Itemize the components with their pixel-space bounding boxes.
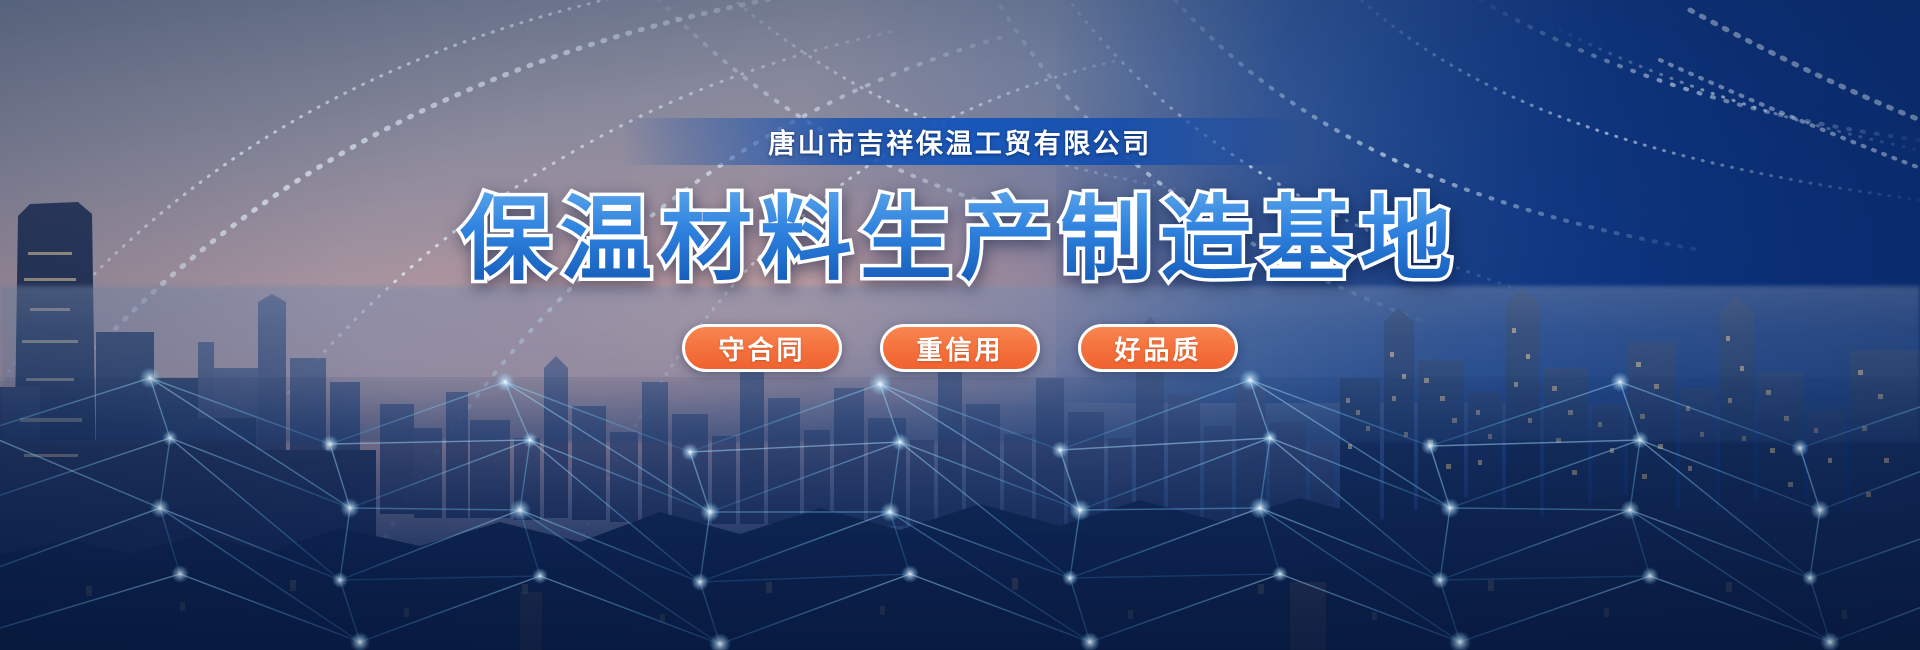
badge-shou-he-tong[interactable]: 守合同 bbox=[682, 324, 842, 372]
badge-label: 守合同 bbox=[718, 330, 805, 367]
badge-label: 重信用 bbox=[916, 330, 1003, 367]
hero-banner: 唐山市吉祥保温工贸有限公司 保温材料生产制造基地 保温材料生产制造基地 守合同 … bbox=[0, 0, 1920, 650]
page-title: 保温材料生产制造基地 bbox=[460, 189, 1460, 291]
banner-content: 唐山市吉祥保温工贸有限公司 保温材料生产制造基地 保温材料生产制造基地 守合同 … bbox=[0, 0, 1920, 650]
headline-container: 保温材料生产制造基地 保温材料生产制造基地 bbox=[460, 165, 1460, 298]
badge-list: 守合同 重信用 好品质 bbox=[682, 324, 1238, 372]
company-name: 唐山市吉祥保温工贸有限公司 bbox=[768, 122, 1152, 161]
badge-zhong-xin-yong[interactable]: 重信用 bbox=[880, 324, 1040, 372]
badge-label: 好品质 bbox=[1114, 330, 1201, 367]
company-name-ribbon: 唐山市吉祥保温工贸有限公司 bbox=[620, 118, 1300, 165]
badge-hao-pin-zhi[interactable]: 好品质 bbox=[1078, 324, 1238, 372]
